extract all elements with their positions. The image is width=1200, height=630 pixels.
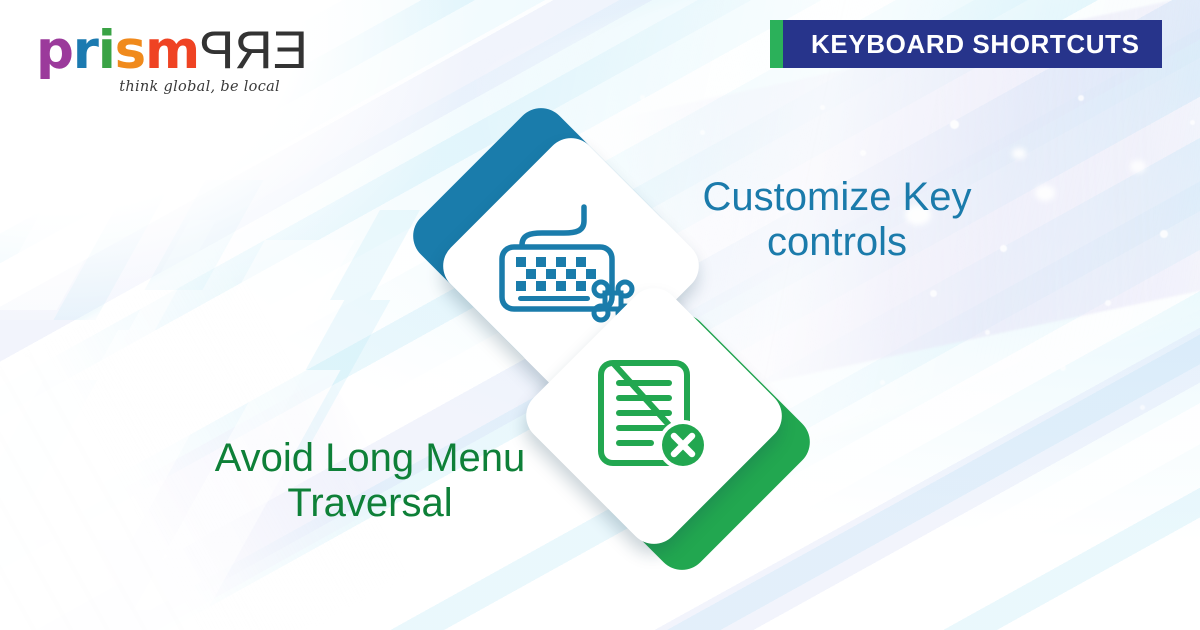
header-badge: KEYBOARD SHORTCUTS — [770, 20, 1162, 68]
logo-letter-s: s — [115, 24, 145, 77]
logo-letter-m: m — [145, 24, 199, 77]
heading-blue-line-1: Customize Key — [642, 175, 1032, 220]
heading-customize-key-controls: Customize Key controls — [642, 175, 1032, 265]
brand-logo-wordmark: prismERP — [36, 24, 286, 77]
heading-green-line-1: Avoid Long Menu — [150, 436, 590, 481]
logo-letter-i: i — [98, 24, 115, 77]
logo-letter-r: r — [73, 24, 98, 77]
logo-text-erp: ERP — [199, 24, 308, 77]
header-badge-label: KEYBOARD SHORTCUTS — [811, 29, 1140, 60]
heading-blue-line-2: controls — [642, 220, 1032, 265]
brand-tagline: think global, be local — [36, 79, 286, 95]
header-badge-body: KEYBOARD SHORTCUTS — [783, 20, 1162, 68]
heading-avoid-long-menu-traversal: Avoid Long Menu Traversal — [150, 436, 590, 526]
brand-logo[interactable]: prismERP think global, be local — [36, 24, 286, 95]
poster-canvas: prismERP think global, be local KEYBOARD… — [0, 0, 1200, 630]
header-badge-accent-bar — [770, 20, 783, 68]
heading-green-line-2: Traversal — [150, 481, 590, 526]
logo-letter-p: p — [36, 24, 73, 77]
